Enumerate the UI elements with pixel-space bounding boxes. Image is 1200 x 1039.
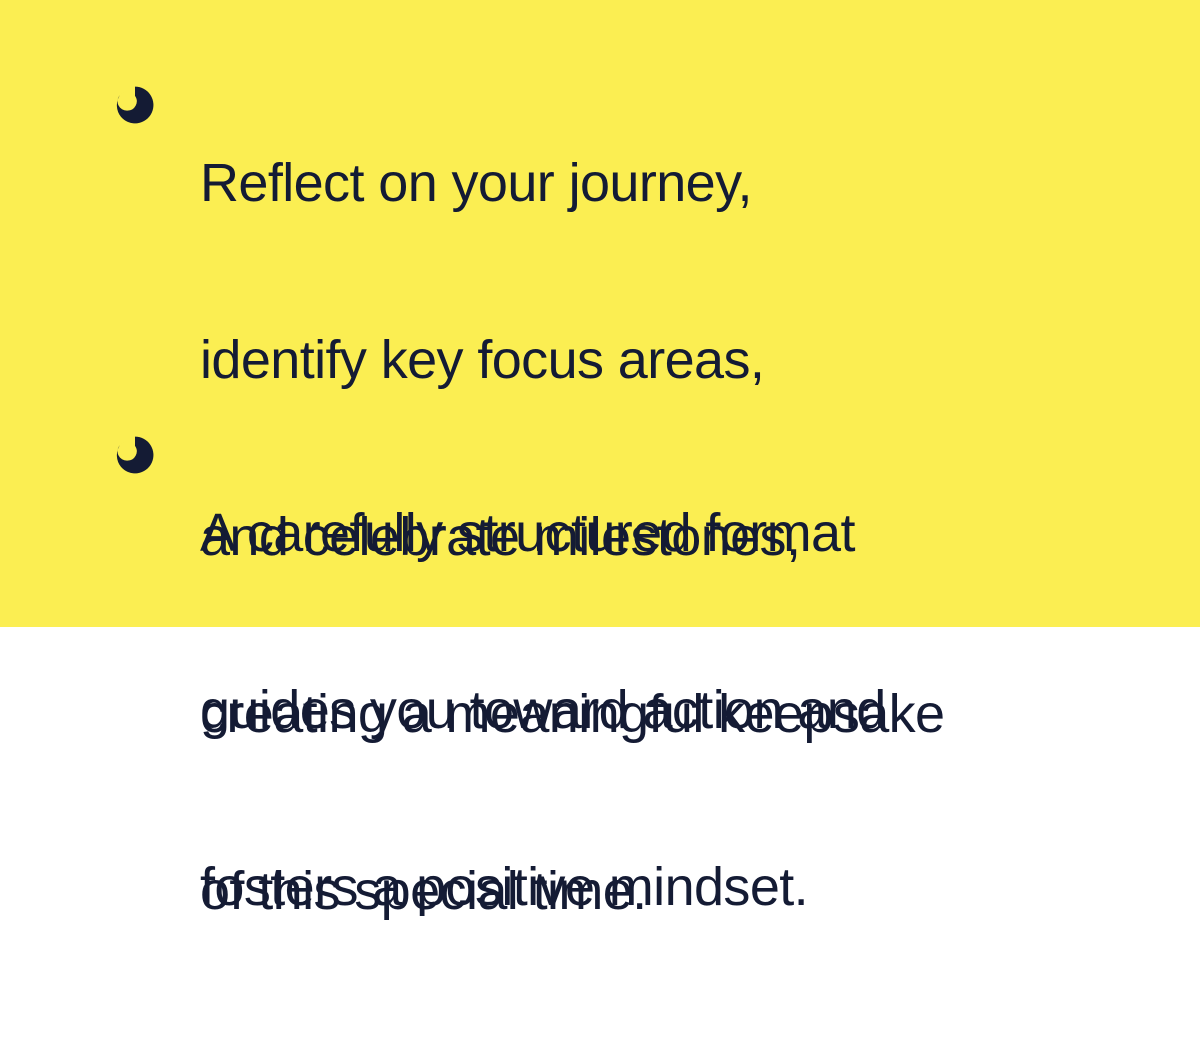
bullet-list: Reflect on your journey, identify key fo… (0, 0, 1200, 627)
text-line: A carefully structured format (200, 504, 886, 563)
list-item: A carefully structured format guides you… (116, 386, 886, 1035)
text-line: fosters a positive mindset. (200, 858, 886, 917)
bullet-text-block: A carefully structured format guides you… (200, 386, 886, 1035)
text-line: Reflect on your journey, (200, 154, 945, 213)
ring-gap-bullet-icon (116, 86, 154, 124)
text-line: guides you toward action and (200, 681, 886, 740)
ring-gap-bullet-icon (116, 436, 154, 474)
slide-canvas: Reflect on your journey, identify key fo… (0, 0, 1200, 627)
text-line: identify key focus areas, (200, 331, 945, 390)
